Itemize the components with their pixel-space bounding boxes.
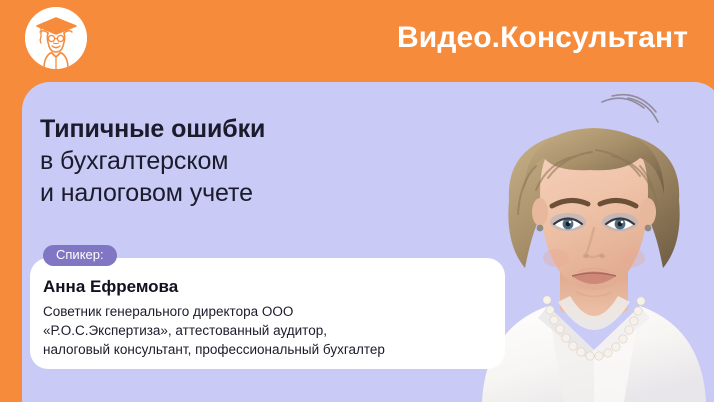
slide-title: Типичные ошибки в бухгалтерском и налого…	[40, 113, 265, 209]
speaker-description-line-3: налоговый консультант, профессиональный …	[43, 340, 485, 359]
title-line-2: в бухгалтерском	[40, 145, 265, 177]
consultant-graduate-logo-icon	[25, 7, 87, 69]
speaker-badge: Спикер:	[43, 245, 117, 266]
speaker-card: Анна Ефремова Советник генерального дире…	[30, 258, 505, 369]
speaker-description-line-2: «Р.О.С.Экспертиза», аттестованный аудито…	[43, 321, 485, 340]
title-line-3: и налоговом учете	[40, 177, 265, 209]
speaker-name: Анна Ефремова	[43, 276, 485, 298]
speaker-description: Советник генерального директора ООО «Р.О…	[43, 302, 485, 359]
speaker-description-line-1: Советник генерального директора ООО	[43, 302, 485, 321]
title-line-1: Типичные ошибки	[40, 113, 265, 145]
video-consultant-slide: Видео.Консультант	[0, 0, 714, 402]
brand-title: Видео.Консультант	[397, 18, 688, 58]
slide-header: Видео.Консультант	[0, 0, 714, 82]
